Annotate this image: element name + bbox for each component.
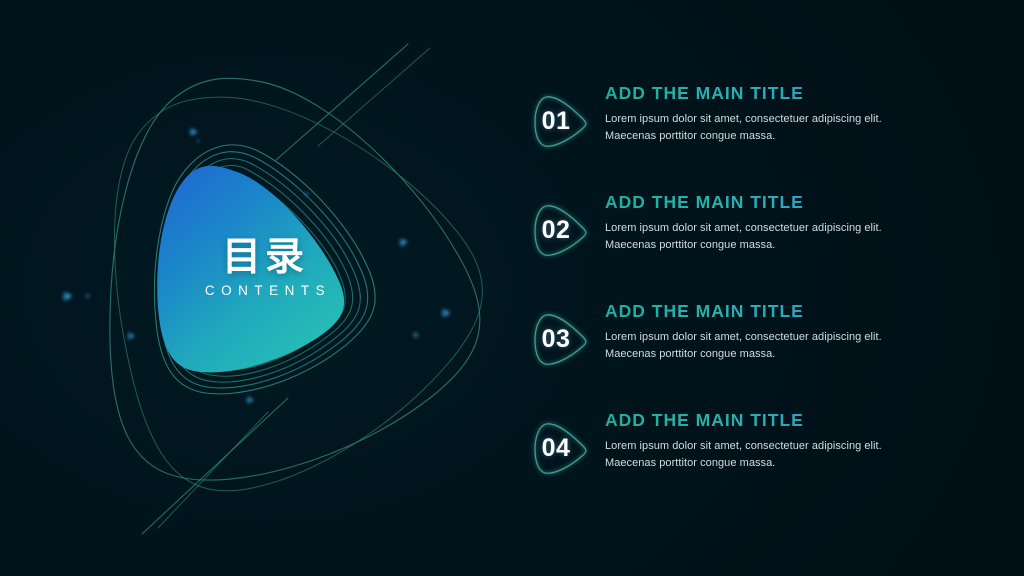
agenda-number-badge-04: 04 [528, 417, 592, 479]
agenda-title-01: ADD THE MAIN TITLE [605, 82, 1005, 104]
agenda-text-block-02: ADD THE MAIN TITLE Lorem ipsum dolor sit… [605, 191, 1005, 253]
agenda-desc-03: Lorem ipsum dolor sit amet, consectetuer… [605, 329, 935, 362]
agenda-desc-02: Lorem ipsum dolor sit amet, consectetuer… [605, 220, 935, 253]
agenda-item-02[interactable]: 02 ADD THE MAIN TITLE Lorem ipsum dolor … [520, 185, 1024, 285]
agenda-number-badge-01: 01 [528, 90, 592, 152]
agenda-title-02: ADD THE MAIN TITLE [605, 191, 1005, 213]
agenda-title-04: ADD THE MAIN TITLE [605, 409, 1005, 431]
contents-slide: 目录 CONTENTS 01 ADD THE MAIN TITLE Lorem … [0, 0, 1024, 576]
agenda-desc-04: Lorem ipsum dolor sit amet, consectetuer… [605, 438, 935, 471]
main-triangle [157, 166, 344, 373]
agenda-number-badge-03: 03 [528, 308, 592, 370]
agenda-title-03: ADD THE MAIN TITLE [605, 300, 1005, 322]
agenda-text-block-01: ADD THE MAIN TITLE Lorem ipsum dolor sit… [605, 82, 1005, 144]
agenda-text-block-04: ADD THE MAIN TITLE Lorem ipsum dolor sit… [605, 409, 1005, 471]
agenda-number-04: 04 [528, 417, 584, 479]
agenda-number-03: 03 [528, 308, 584, 370]
agenda-text-block-03: ADD THE MAIN TITLE Lorem ipsum dolor sit… [605, 300, 1005, 362]
agenda-item-03[interactable]: 03 ADD THE MAIN TITLE Lorem ipsum dolor … [520, 294, 1024, 394]
agenda-list: 01 ADD THE MAIN TITLE Lorem ipsum dolor … [520, 0, 1024, 576]
agenda-desc-01: Lorem ipsum dolor sit amet, consectetuer… [605, 111, 935, 144]
agenda-item-01[interactable]: 01 ADD THE MAIN TITLE Lorem ipsum dolor … [520, 76, 1024, 176]
diagonal-lines-bottom [142, 398, 288, 534]
agenda-item-04[interactable]: 04 ADD THE MAIN TITLE Lorem ipsum dolor … [520, 403, 1024, 503]
agenda-number-badge-02: 02 [528, 199, 592, 261]
contents-emblem-graphic [0, 0, 520, 576]
agenda-number-02: 02 [528, 199, 584, 261]
agenda-number-01: 01 [528, 90, 584, 152]
